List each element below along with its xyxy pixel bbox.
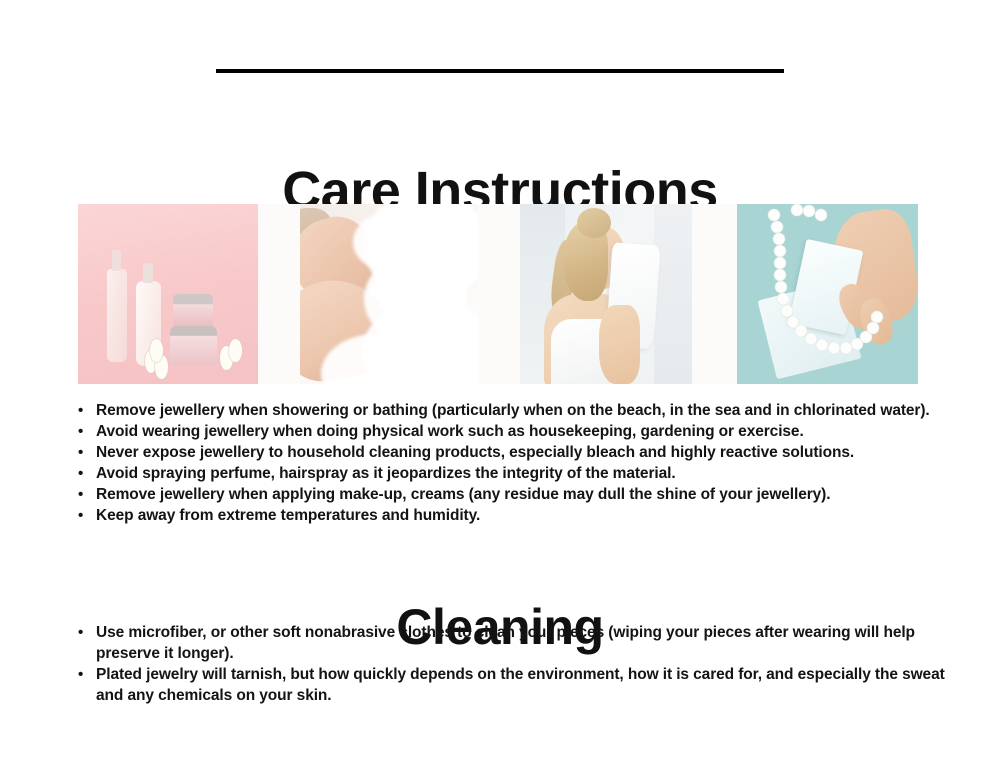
spray-bottle-shape (107, 269, 127, 363)
flower-shape (229, 339, 242, 362)
hair-bun-shape (577, 208, 611, 239)
photo-gap (478, 204, 520, 384)
photo-woman-in-bubble-bath (300, 204, 478, 384)
pearl-necklace-icon (737, 204, 918, 384)
list-item: Plated jewelry will tarnish, but how qui… (66, 664, 946, 706)
photo-hand-polishing-pearl-necklace (737, 204, 918, 384)
list-item: Avoid wearing jewellery when doing physi… (66, 421, 946, 442)
care-instructions-page: Care Instructions (0, 0, 1000, 781)
top-divider-rule (216, 69, 784, 73)
cream-jar-upper-shape (173, 294, 213, 330)
care-instructions-list: Remove jewellery when showering or bathi… (66, 400, 946, 526)
photo-pink-cosmetics-products (78, 204, 258, 384)
list-item: Keep away from extreme temperatures and … (66, 505, 946, 526)
cleaning-list: Use microfiber, or other soft nonabrasiv… (66, 622, 946, 706)
bath-foam-shape (353, 215, 414, 269)
wall-right-shape (654, 204, 692, 384)
flower-shape (150, 339, 163, 362)
arm-shape (599, 305, 640, 384)
photo-gap (692, 204, 737, 384)
photo-gap (258, 204, 300, 384)
list-item: Remove jewellery when applying make-up, … (66, 484, 946, 505)
cream-jar-lower-shape (170, 326, 217, 366)
list-item: Remove jewellery when showering or bathi… (66, 400, 946, 421)
list-item: Avoid spraying perfume, hairspray as it … (66, 463, 946, 484)
photo-woman-wiping-with-towel (520, 204, 692, 384)
photo-strip (78, 204, 918, 384)
list-item: Never expose jewellery to household clea… (66, 442, 946, 463)
list-item: Use microfiber, or other soft nonabrasiv… (66, 622, 946, 664)
